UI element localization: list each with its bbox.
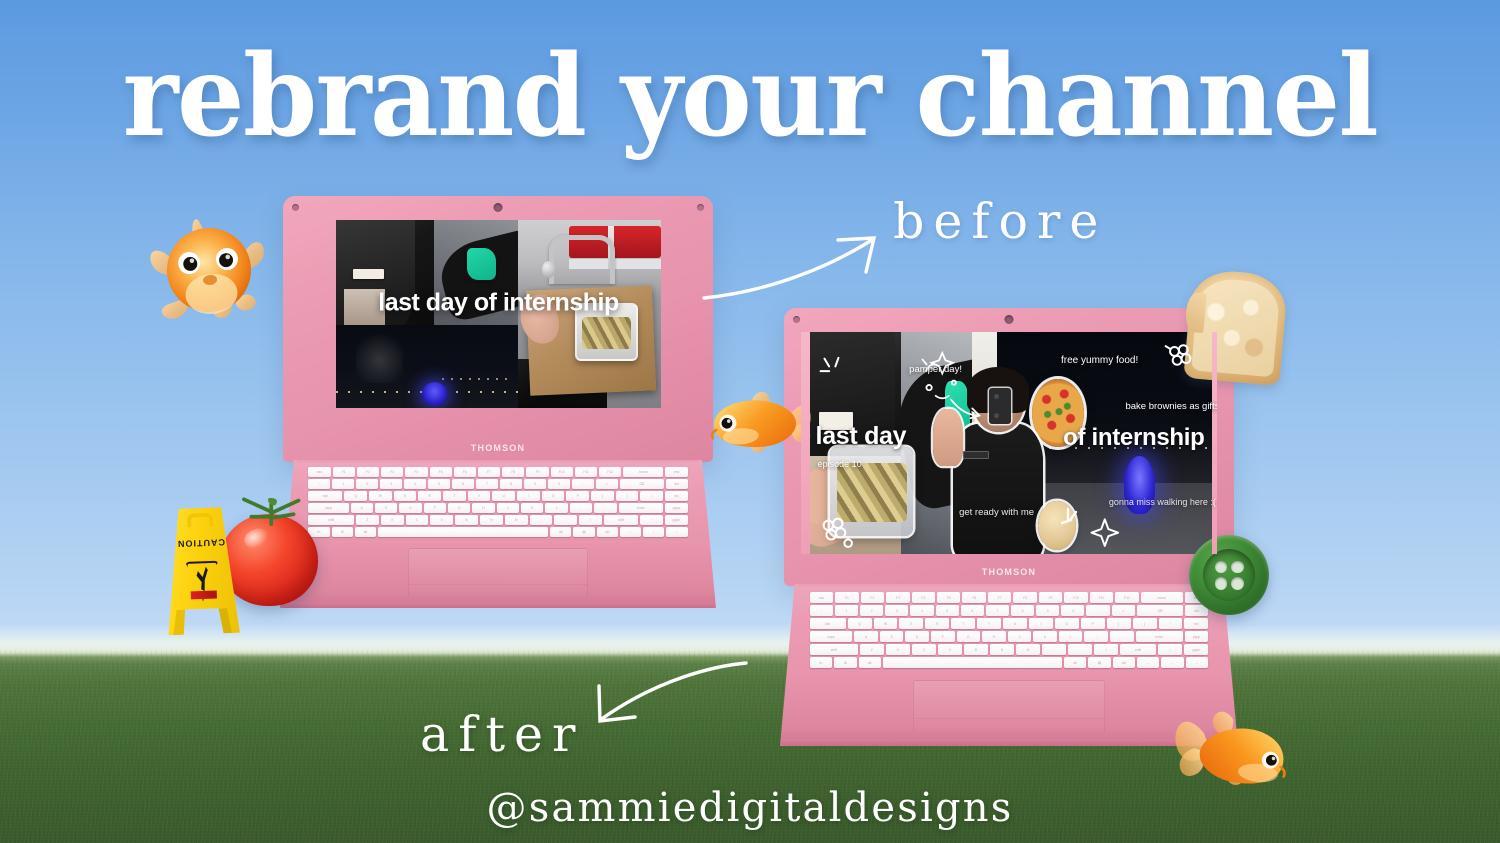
key[interactable]: F11 — [1090, 592, 1113, 603]
key[interactable]: J — [497, 503, 519, 513]
key[interactable]: enter — [1136, 631, 1183, 642]
key[interactable]: F7 — [988, 592, 1011, 603]
key[interactable]: F1 — [835, 592, 858, 603]
key[interactable]: ] — [1133, 618, 1157, 629]
key[interactable]: F5 — [430, 467, 452, 477]
key[interactable]: ; — [1084, 631, 1108, 642]
key[interactable]: alt — [859, 657, 881, 668]
key[interactable]: fn — [810, 657, 832, 668]
label-after: after — [420, 706, 584, 763]
key[interactable]: T — [443, 491, 466, 501]
key[interactable]: 7 — [986, 605, 1009, 616]
key[interactable]: U — [1003, 618, 1027, 629]
page-title: rebrand your channel — [0, 40, 1500, 152]
keyboard-row: capsASDFGHJKL;'enterpgup — [810, 631, 1208, 642]
key[interactable]: → — [666, 527, 687, 537]
key[interactable]: ctrl — [1113, 657, 1135, 668]
button-hole — [1215, 561, 1228, 574]
key[interactable]: W — [874, 618, 898, 629]
key[interactable]: ↑ — [640, 515, 663, 525]
key[interactable]: = — [596, 479, 618, 489]
keyboard-row: shiftZXCVBNM,./shift↑pgdn — [308, 515, 687, 525]
key[interactable]: F4 — [405, 467, 427, 477]
key[interactable]: F3 — [381, 467, 403, 477]
key[interactable]: alt — [1064, 657, 1086, 668]
key[interactable]: Q — [848, 618, 872, 629]
key[interactable]: home — [623, 467, 663, 477]
key[interactable]: F9 — [1039, 592, 1062, 603]
key[interactable]: V — [430, 515, 453, 525]
keyboard-row: shiftZXCVBNM,./shift↑pgdn — [810, 644, 1208, 655]
keyboard-row: ~1234567890-=⌫del — [810, 605, 1208, 616]
key[interactable]: ← — [620, 527, 641, 537]
key[interactable]: R — [925, 618, 949, 629]
key[interactable]: 4 — [404, 479, 426, 489]
key[interactable]: 8 — [500, 479, 522, 489]
keyboard-row: escF1F2F3F4F5F6F7F8F9F10F11F12homeend — [308, 467, 687, 477]
key[interactable]: end — [665, 467, 687, 477]
brand-label: THOMSON — [982, 567, 1036, 577]
key[interactable]: F11 — [575, 467, 597, 477]
button-hole — [1231, 577, 1244, 590]
key[interactable]: 6 — [452, 479, 474, 489]
key[interactable]: C — [406, 515, 429, 525]
key[interactable]: V — [938, 644, 962, 655]
key[interactable]: - — [1086, 605, 1109, 616]
poster-canvas: rebrand your channel — [0, 0, 1500, 843]
after-laptop-trackpad[interactable] — [913, 680, 1105, 734]
before-arrow-icon — [700, 232, 890, 302]
toast-sticker — [1183, 268, 1288, 386]
after-laptop-brand: THOMSON — [784, 558, 1234, 586]
key[interactable]: G — [448, 503, 470, 513]
key[interactable]: X — [381, 515, 404, 525]
keyboard-row: fn⊞altalt▤ctrl←↓→ — [308, 527, 687, 537]
key[interactable]: ' — [1110, 631, 1134, 642]
key[interactable]: del — [666, 479, 688, 489]
key-space[interactable] — [883, 657, 1062, 668]
goldfish-sticker-middle — [702, 383, 817, 462]
key[interactable]: [ — [1107, 618, 1131, 629]
key-space[interactable] — [378, 527, 548, 537]
key[interactable]: D — [399, 503, 421, 513]
key[interactable]: L — [1059, 631, 1083, 642]
before-laptop[interactable]: last day of internship THOMSON escF1F2F3… — [283, 196, 713, 466]
key[interactable]: \ — [640, 491, 663, 501]
key[interactable]: ↓ — [643, 527, 664, 537]
key[interactable]: esc — [308, 467, 330, 477]
key[interactable]: → — [1186, 657, 1208, 668]
key[interactable]: F3 — [886, 592, 909, 603]
key[interactable]: - — [572, 479, 594, 489]
key[interactable]: Z — [356, 515, 379, 525]
key[interactable]: 3 — [380, 479, 402, 489]
key[interactable]: P — [566, 491, 589, 501]
key[interactable]: ~ — [308, 479, 330, 489]
key[interactable]: F1 — [333, 467, 355, 477]
name-tag — [963, 451, 989, 460]
key[interactable]: ↑ — [1158, 644, 1182, 655]
blue-dome — [422, 382, 447, 405]
key[interactable]: E — [394, 491, 417, 501]
key[interactable]: 1 — [332, 479, 354, 489]
key[interactable]: F6 — [454, 467, 476, 477]
key[interactable]: U — [492, 491, 515, 501]
before-laptop-keyboard[interactable]: escF1F2F3F4F5F6F7F8F9F10F11F12homeend ~1… — [308, 467, 687, 537]
key[interactable]: F10 — [551, 467, 573, 477]
cookie-cutout — [1038, 501, 1075, 550]
person-body — [953, 424, 1043, 554]
after-thumbnail: last day of internship episode 10 pamper… — [801, 332, 1217, 554]
key[interactable]: 9 — [524, 479, 546, 489]
key[interactable]: Q — [344, 491, 367, 501]
key[interactable]: R — [418, 491, 441, 501]
key[interactable]: / — [1094, 644, 1118, 655]
key[interactable]: 1 — [835, 605, 858, 616]
key[interactable]: K — [521, 503, 543, 513]
keyboard-row: escF1F2F3F4F5F6F7F8F9F10F11F12homeend — [810, 592, 1208, 603]
key[interactable]: , — [530, 515, 553, 525]
key[interactable]: ⌫ — [1137, 605, 1183, 616]
screw-icon — [292, 204, 299, 211]
key[interactable]: 7 — [476, 479, 498, 489]
key[interactable]: Z — [860, 644, 884, 655]
key[interactable]: 5 — [428, 479, 450, 489]
key[interactable]: K — [1033, 631, 1057, 642]
key[interactable]: F5 — [937, 592, 960, 603]
key[interactable]: ▤ — [573, 527, 594, 537]
key[interactable]: F2 — [357, 467, 379, 477]
key[interactable]: ⊞ — [332, 527, 353, 537]
after-laptop-deck: escF1F2F3F4F5F6F7F8F9F10F11F12homeend ~1… — [780, 584, 1238, 746]
key[interactable]: pgup — [665, 503, 687, 513]
annotation-miss-walking: gonna miss walking here :( — [1109, 497, 1216, 507]
key[interactable]: O — [1055, 618, 1079, 629]
key[interactable]: A — [351, 503, 373, 513]
key[interactable]: fn — [308, 527, 329, 537]
key[interactable]: 5 — [936, 605, 959, 616]
key[interactable]: ' — [594, 503, 616, 513]
key[interactable]: F10 — [1064, 592, 1087, 603]
button-hole — [1231, 561, 1244, 574]
key[interactable]: ; — [570, 503, 592, 513]
phone — [989, 388, 1011, 424]
before-laptop-brand: THOMSON — [283, 434, 713, 462]
keyboard-row: tabQWERTYUIOP[]\ins — [308, 491, 687, 501]
caution-red-stripe — [191, 591, 217, 599]
key[interactable]: ins — [665, 491, 688, 501]
key[interactable]: T — [951, 618, 975, 629]
screw-icon — [793, 316, 800, 323]
key[interactable]: 4 — [910, 605, 933, 616]
key[interactable]: tab — [810, 618, 846, 629]
key[interactable]: F6 — [962, 592, 985, 603]
key[interactable]: F12 — [1115, 592, 1138, 603]
key[interactable]: F9 — [526, 467, 548, 477]
key[interactable]: \ — [1159, 618, 1183, 629]
key[interactable]: home — [1141, 592, 1183, 603]
caution-sign-handle — [187, 513, 213, 528]
key[interactable]: 0 — [1061, 605, 1084, 616]
key[interactable]: 6 — [961, 605, 984, 616]
key[interactable]: = — [1112, 605, 1135, 616]
key[interactable]: F8 — [1013, 592, 1036, 603]
key[interactable]: W — [369, 491, 392, 501]
button-hole — [1215, 577, 1228, 590]
key[interactable]: S — [880, 631, 904, 642]
key[interactable]: 8 — [1011, 605, 1034, 616]
key[interactable]: ins — [1184, 618, 1208, 629]
key[interactable]: B — [964, 644, 988, 655]
brand-label: THOMSON — [471, 443, 525, 453]
after-laptop[interactable]: last day of internship episode 10 pamper… — [784, 308, 1234, 598]
key[interactable]: pgdn — [1184, 644, 1208, 655]
after-thumbnail-episode: episode 10 — [818, 459, 862, 469]
goldfish-sticker-bottom-right — [1163, 698, 1298, 807]
key[interactable]: H — [472, 503, 494, 513]
caution-sign-legs — [170, 608, 234, 635]
key[interactable]: ~ — [810, 605, 833, 616]
key[interactable]: shift — [810, 644, 858, 655]
key[interactable]: tab — [308, 491, 342, 501]
key[interactable]: shift — [308, 515, 354, 525]
keyboard-row: ~1234567890-=⌫del — [308, 479, 687, 489]
front-lip — [280, 602, 716, 608]
key[interactable]: B — [455, 515, 478, 525]
green-object — [467, 248, 496, 280]
key[interactable]: ← — [1137, 657, 1159, 668]
key[interactable]: ↓ — [1161, 657, 1183, 668]
keyboard-row: fn⊞altalt▤ctrl←↓→ — [810, 657, 1208, 668]
key[interactable]: enter — [619, 503, 664, 513]
after-thumbnail-title-right: of internship — [1063, 424, 1204, 452]
key[interactable]: alt — [550, 527, 571, 537]
key[interactable]: ⌫ — [620, 479, 664, 489]
key[interactable]: , — [1042, 644, 1066, 655]
key[interactable]: ] — [616, 491, 639, 501]
key[interactable]: . — [554, 515, 577, 525]
key[interactable]: F8 — [502, 467, 524, 477]
annotation-free-food: free yummy food! — [1061, 355, 1138, 366]
key[interactable]: I — [517, 491, 540, 501]
annotation-pamper-day: pamper day! — [909, 364, 962, 375]
key[interactable]: A — [854, 631, 878, 642]
key[interactable]: / — [579, 515, 602, 525]
name-tag — [353, 269, 384, 278]
label-before: before — [893, 193, 1107, 250]
key[interactable]: P — [1081, 618, 1105, 629]
key[interactable]: shift — [604, 515, 638, 525]
before-laptop-trackpad[interactable] — [408, 548, 588, 598]
key[interactable]: N — [480, 515, 503, 525]
key[interactable]: O — [542, 491, 565, 501]
key[interactable]: ▤ — [1088, 657, 1110, 668]
key[interactable]: ⊞ — [834, 657, 856, 668]
before-laptop-deck: escF1F2F3F4F5F6F7F8F9F10F11F12homeend ~1… — [280, 460, 716, 608]
thumb-panel-night-street — [336, 325, 518, 408]
key[interactable]: [ — [591, 491, 614, 501]
peace-hand — [933, 409, 964, 466]
key[interactable]: H — [982, 631, 1006, 642]
key[interactable]: M — [1016, 644, 1040, 655]
after-thumbnail-title-left: last day — [816, 422, 907, 451]
key[interactable]: G — [957, 631, 981, 642]
key[interactable]: M — [505, 515, 528, 525]
key[interactable]: caps — [810, 631, 852, 642]
key[interactable]: F7 — [478, 467, 500, 477]
before-laptop-screen[interactable]: last day of internship — [336, 220, 661, 408]
key[interactable]: L — [545, 503, 567, 513]
key[interactable]: Y — [977, 618, 1001, 629]
hand-rail — [549, 235, 615, 284]
key[interactable]: J — [1008, 631, 1032, 642]
key[interactable]: 3 — [885, 605, 908, 616]
caution-sign-sticker: CAUTION — [162, 507, 242, 636]
key[interactable]: caps — [308, 503, 348, 513]
thumbnail-left-border — [801, 332, 810, 554]
goldfish-sticker-top-left — [142, 208, 275, 332]
before-thumbnail: last day of internship — [336, 220, 661, 408]
key[interactable]: F2 — [861, 592, 884, 603]
key[interactable]: F — [424, 503, 446, 513]
after-laptop-screen[interactable]: last day of internship episode 10 pamper… — [801, 332, 1217, 554]
before-laptop-lid: last day of internship THOMSON — [283, 196, 713, 462]
after-laptop-keyboard[interactable]: escF1F2F3F4F5F6F7F8F9F10F11F12homeend ~1… — [810, 592, 1208, 668]
after-laptop-lid: last day of internship episode 10 pamper… — [784, 308, 1234, 586]
key[interactable]: D — [905, 631, 929, 642]
string-lights — [442, 378, 515, 380]
key[interactable]: esc — [810, 592, 833, 603]
annotation-get-ready: get ready with me — [959, 507, 1034, 518]
key[interactable]: I — [1029, 618, 1053, 629]
key[interactable]: ctrl — [597, 527, 618, 537]
key[interactable]: shift — [1120, 644, 1156, 655]
key[interactable]: F — [931, 631, 955, 642]
key[interactable]: 2 — [356, 479, 378, 489]
tomato-stem-icon — [234, 494, 308, 534]
green-button-sticker — [1189, 535, 1269, 615]
key[interactable]: X — [886, 644, 910, 655]
before-thumbnail-title: last day of internship — [336, 288, 661, 317]
key[interactable]: . — [1068, 644, 1092, 655]
key[interactable]: F4 — [912, 592, 935, 603]
annotation-bake-brownies: bake brownies as gifts — [1125, 401, 1217, 412]
thumbnail-right-border — [1212, 332, 1217, 554]
key[interactable]: pgup — [1185, 631, 1209, 642]
key[interactable]: alt — [355, 527, 376, 537]
keyboard-row: capsASDFGHJKL;'enterpgup — [308, 503, 687, 513]
key[interactable]: Y — [468, 491, 491, 501]
key[interactable]: F12 — [599, 467, 621, 477]
tree-silhouette — [356, 327, 403, 383]
key[interactable]: C — [912, 644, 936, 655]
key[interactable]: S — [375, 503, 397, 513]
screw-icon — [697, 204, 704, 211]
key[interactable]: 0 — [548, 479, 570, 489]
key[interactable]: pgdn — [665, 515, 688, 525]
key[interactable]: E — [899, 618, 923, 629]
key[interactable]: 9 — [1036, 605, 1059, 616]
key[interactable]: 2 — [860, 605, 883, 616]
keyboard-row: tabQWERTYUIOP[]\ins — [810, 618, 1208, 629]
key[interactable]: N — [990, 644, 1014, 655]
caution-sign-text: CAUTION — [177, 537, 225, 549]
